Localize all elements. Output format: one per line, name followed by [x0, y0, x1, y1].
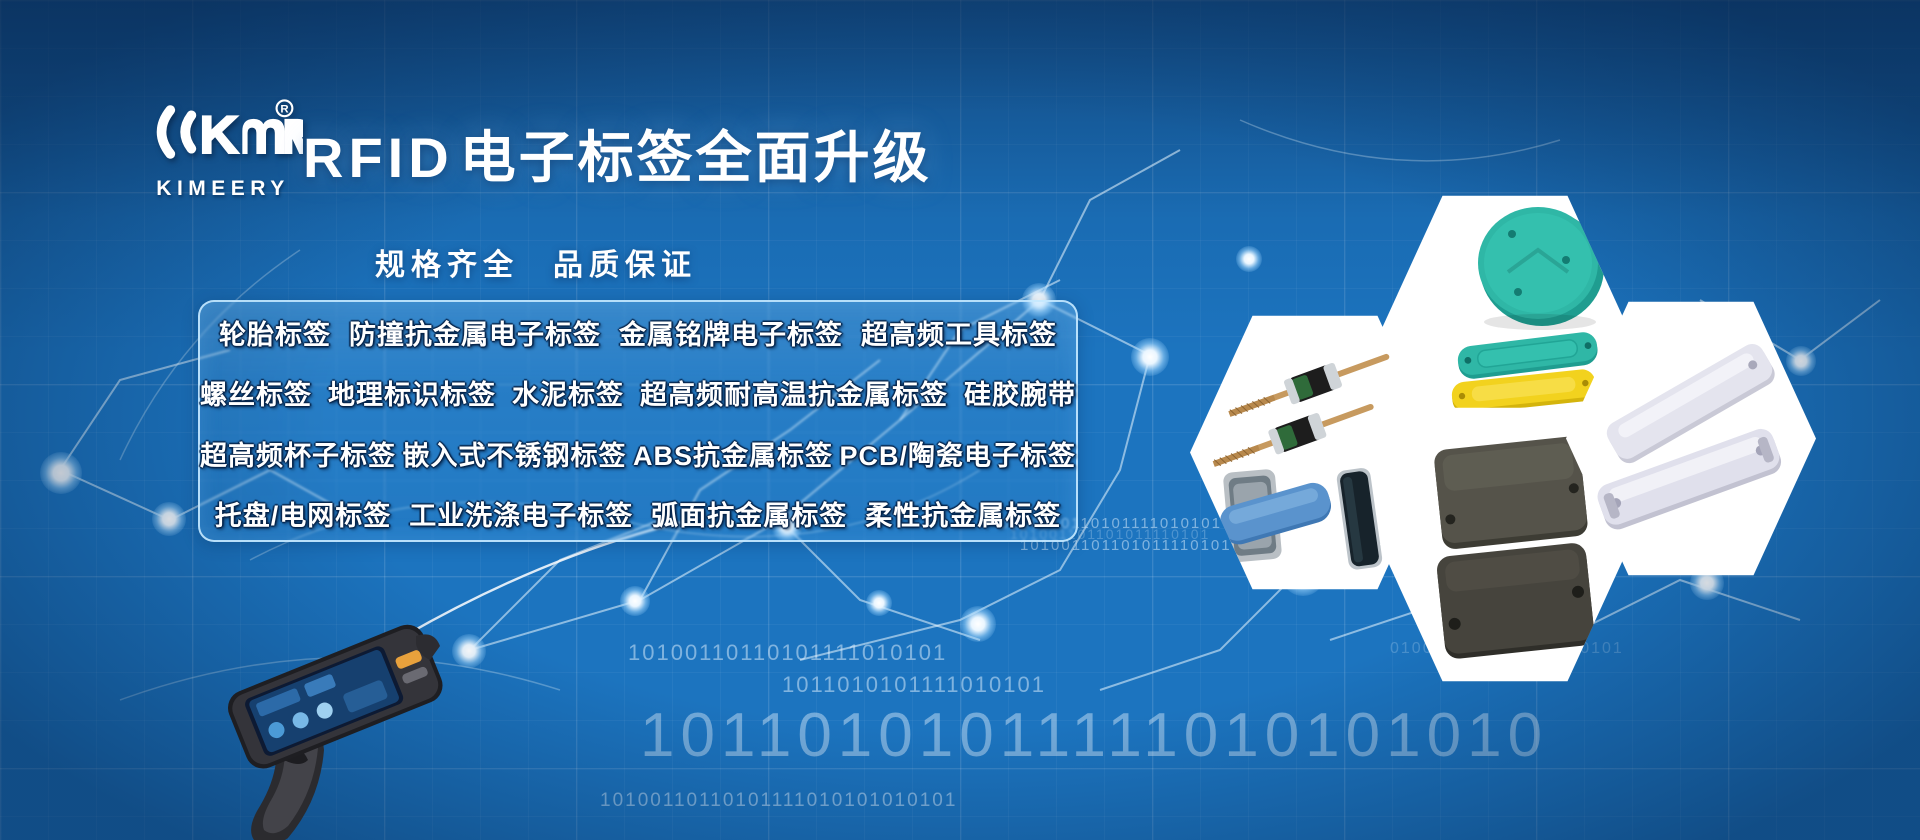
glow-node	[620, 586, 650, 616]
rfid-handheld-reader	[168, 600, 428, 840]
product-category-panel: 轮胎标签防撞抗金属电子标签金属铭牌电子标签超高频工具标签 螺丝标签地理标识标签水…	[198, 300, 1078, 542]
page-title: RFID电子标签全面升级	[303, 113, 932, 194]
subtitle-left: 规格齐全	[375, 249, 519, 282]
kimeery-wave-kmr-logo-icon: R	[143, 96, 303, 168]
subtitle: 规格齐全品质保证	[375, 240, 697, 284]
product-category-item[interactable]: 水泥标签	[512, 373, 624, 412]
product-category-item[interactable]: 金属铭牌电子标签	[619, 313, 843, 352]
product-category-item[interactable]: 轮胎标签	[219, 313, 331, 352]
glow-node	[40, 452, 82, 494]
product-category-item[interactable]: 硅胶腕带	[964, 373, 1076, 412]
product-category-item[interactable]: 托盘/电网标签	[215, 494, 392, 533]
product-category-item[interactable]: 柔性抗金属标签	[865, 494, 1061, 533]
product-category-item[interactable]: ABS抗金属标签	[633, 434, 833, 473]
glow-node	[866, 590, 892, 616]
headline-chinese: 电子标签全面升级	[460, 126, 932, 189]
glow-node	[152, 502, 186, 536]
product-category-row: 轮胎标签防撞抗金属电子标签金属铭牌电子标签超高频工具标签	[200, 302, 1076, 363]
glow-node	[960, 606, 996, 642]
product-category-item[interactable]: 超高频耐高温抗金属标签	[640, 373, 948, 412]
product-category-item[interactable]: 超高频工具标签	[861, 313, 1057, 352]
subtitle-right: 品质保证	[553, 249, 697, 282]
product-category-item[interactable]: 嵌入式不锈钢标签	[402, 434, 626, 473]
binary-decoration: 1011010101111010101	[782, 672, 1046, 698]
binary-decoration: 10100110110101111010101	[628, 640, 947, 666]
product-category-item[interactable]: 工业洗涤电子标签	[409, 494, 633, 533]
brand-logo-block[interactable]: R KIMEERY	[143, 96, 303, 201]
binary-decoration-large: 10110101011111010101010	[640, 700, 1548, 771]
binary-decoration: 10100110110101111010101010101	[600, 790, 957, 812]
brand-wordmark: KIMEERY	[143, 177, 303, 201]
product-category-item[interactable]: 地理标识标签	[328, 373, 496, 412]
product-category-row: 螺丝标签地理标识标签水泥标签超高频耐高温抗金属标签硅胶腕带	[200, 363, 1076, 424]
glow-node	[1131, 338, 1169, 376]
svg-text:R: R	[280, 104, 288, 116]
product-category-item[interactable]: 螺丝标签	[200, 373, 312, 412]
rfid-promo-banner: 0100110110101111010101 10100110110101111…	[0, 0, 1920, 840]
product-category-item[interactable]: 超高频杯子标签	[200, 434, 396, 473]
product-category-item[interactable]: 防撞抗金属电子标签	[349, 313, 601, 352]
headline-english: RFID	[303, 126, 454, 189]
product-category-row: 托盘/电网标签工业洗涤电子标签弧面抗金属标签柔性抗金属标签	[200, 484, 1076, 545]
glow-node	[1786, 346, 1816, 376]
product-category-item[interactable]: 弧面抗金属标签	[651, 494, 847, 533]
product-category-item[interactable]: PCB/陶瓷电子标签	[839, 434, 1076, 473]
product-hex-cluster	[1170, 190, 1790, 630]
product-category-row: 超高频杯子标签嵌入式不锈钢标签ABS抗金属标签PCB/陶瓷电子标签	[200, 423, 1076, 484]
